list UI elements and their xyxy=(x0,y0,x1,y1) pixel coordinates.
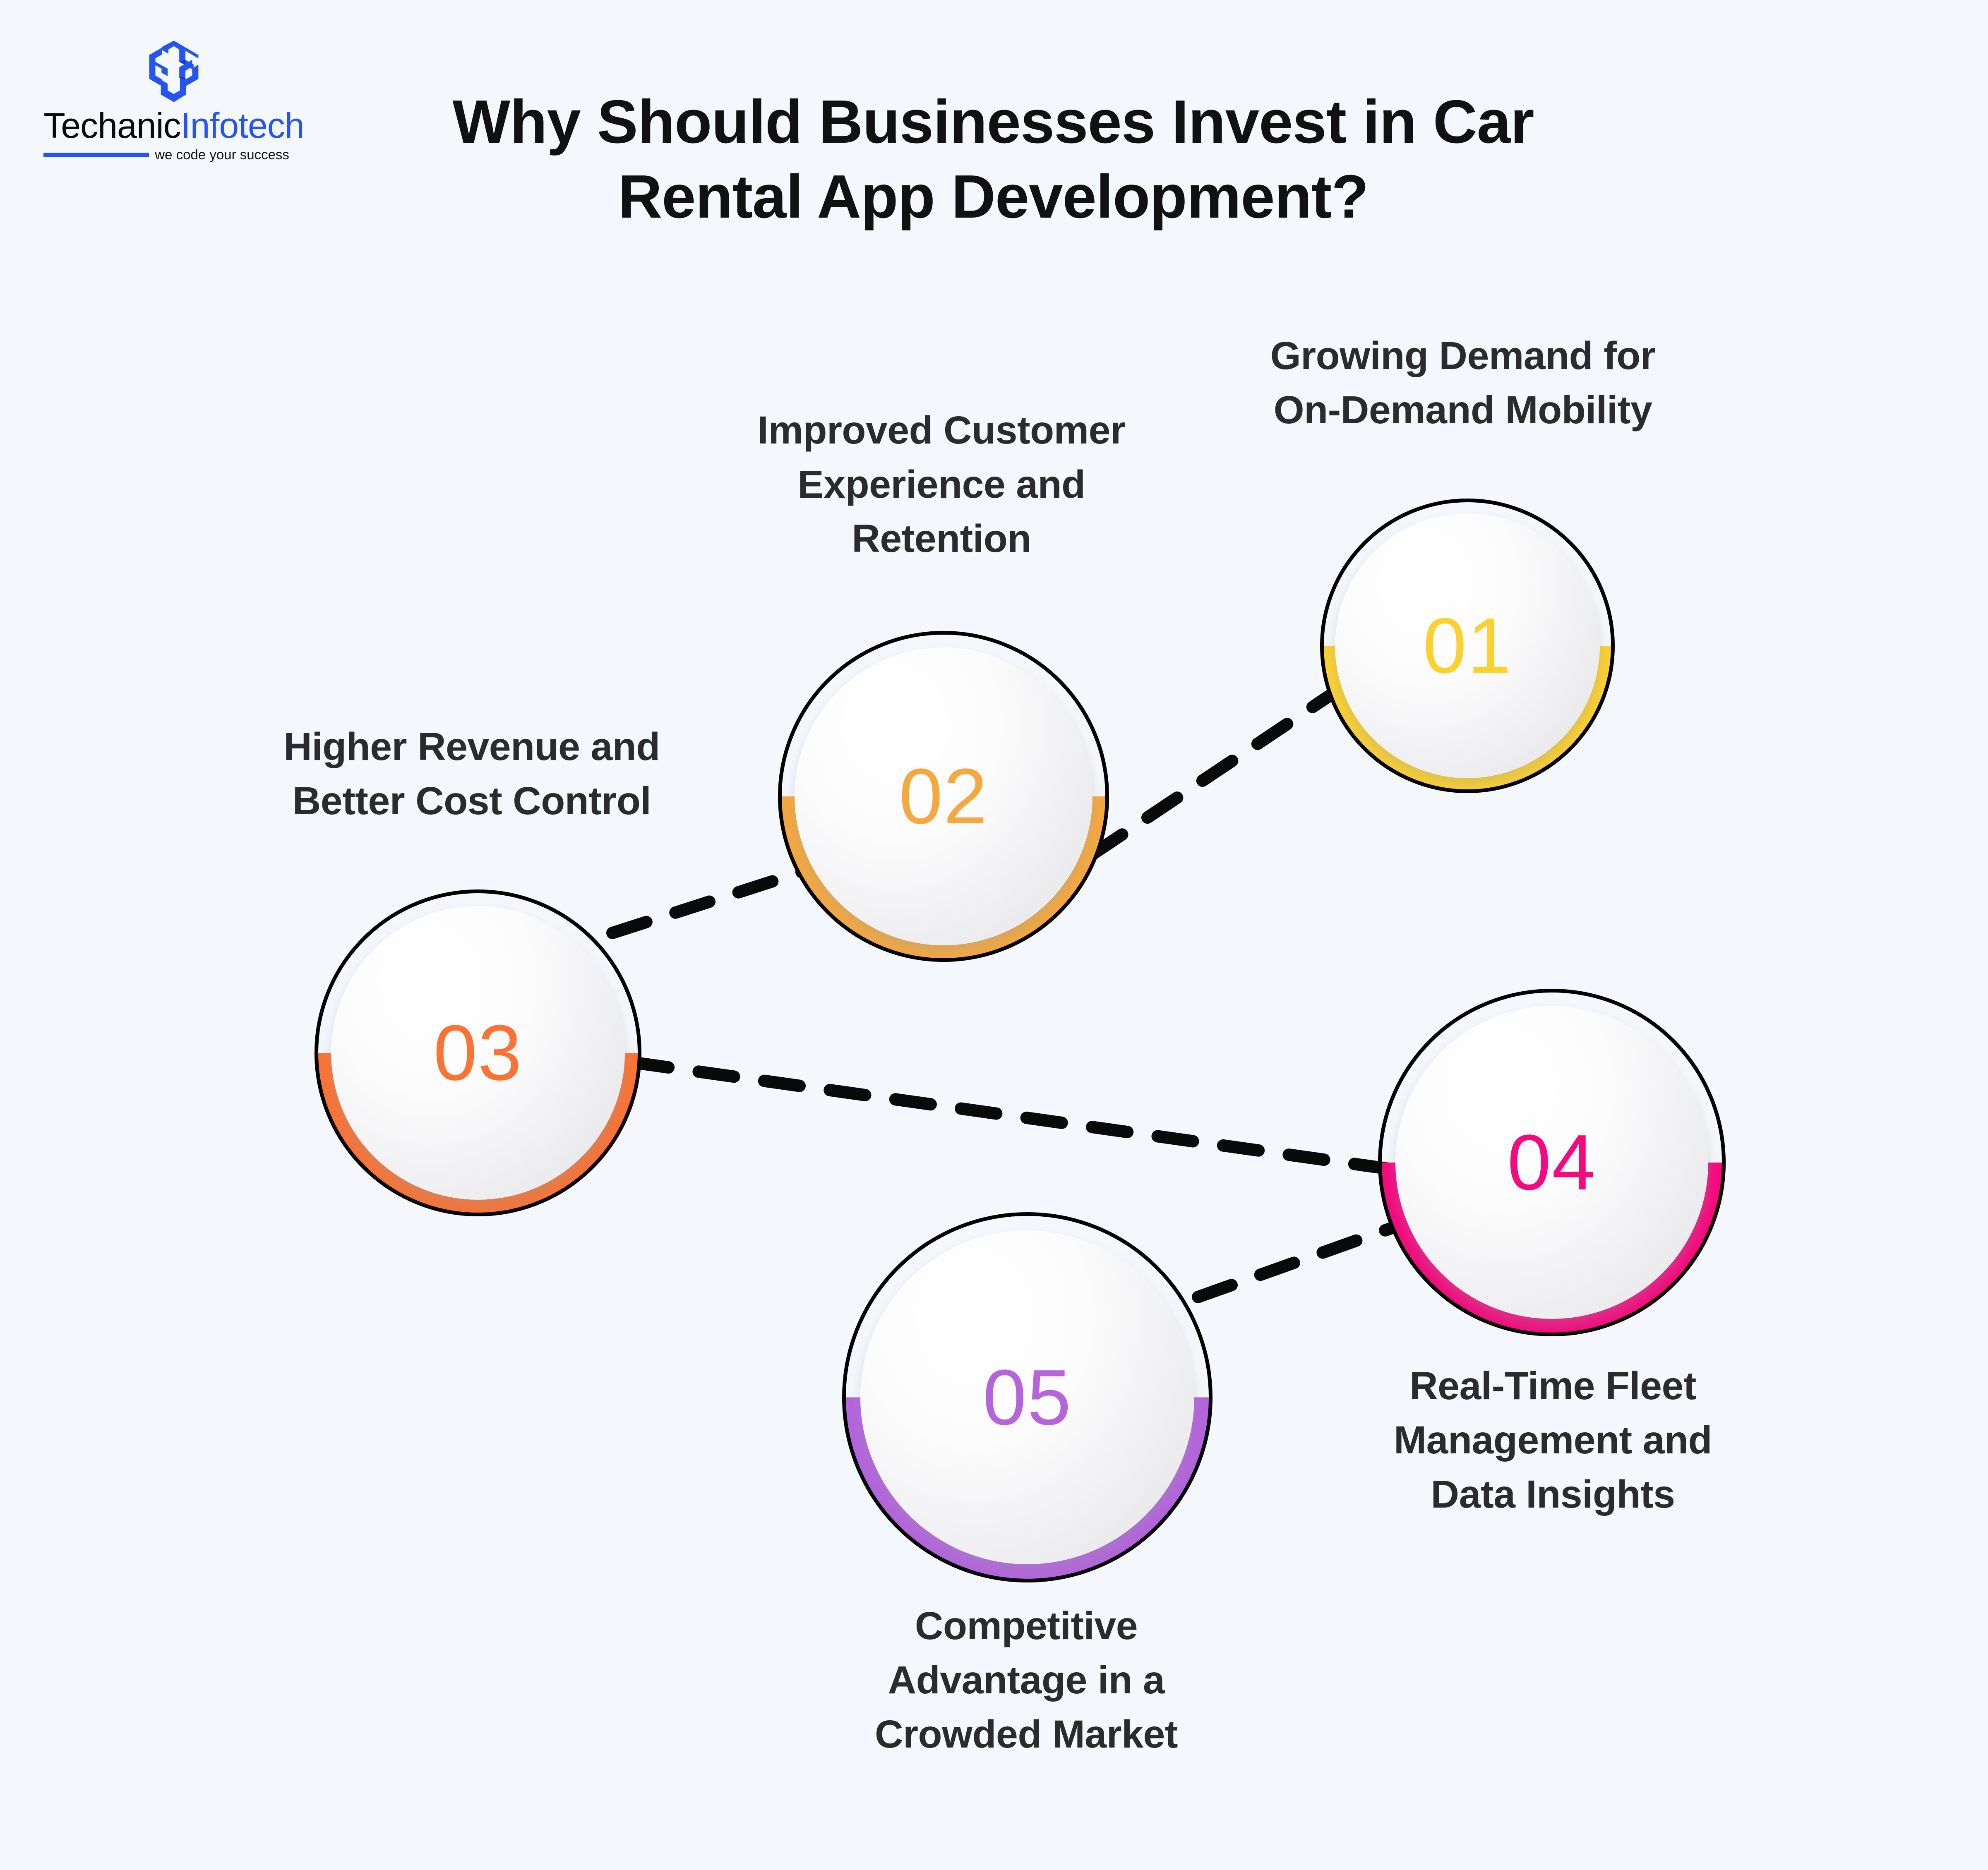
caption-line: Data Insights xyxy=(1335,1467,1771,1522)
caption-line: Experience and xyxy=(685,458,1198,512)
node-caption-04: Real-Time Fleet Management and Data Insi… xyxy=(1335,1359,1771,1522)
node-circle-03[interactable]: 03 xyxy=(315,889,641,1216)
node-number-01: 01 xyxy=(1320,499,1615,793)
caption-line: Advantage in a xyxy=(799,1653,1254,1707)
node-circle-01[interactable]: 01 xyxy=(1320,499,1615,793)
page-title: Why Should Businesses Invest in Car Rent… xyxy=(372,85,1614,234)
logo-divider-rule xyxy=(43,153,149,157)
node-number-04: 04 xyxy=(1378,989,1726,1336)
caption-line: Higher Revenue and xyxy=(174,720,770,774)
node-caption-02: Improved Customer Experience and Retenti… xyxy=(685,403,1198,566)
logo-name-primary: Techanic xyxy=(43,108,180,144)
connector-03-to-04 xyxy=(633,1062,1388,1169)
caption-line: Competitive xyxy=(799,1599,1254,1653)
node-circle-04[interactable]: 04 xyxy=(1378,989,1726,1336)
node-number-02: 02 xyxy=(778,631,1109,962)
node-number-05: 05 xyxy=(842,1212,1212,1582)
caption-line: On-Demand Mobility xyxy=(1188,383,1738,437)
logo-cube-icon xyxy=(134,37,213,105)
caption-line: Real-Time Fleet xyxy=(1335,1359,1771,1413)
caption-line: Crowded Market xyxy=(799,1707,1254,1762)
caption-line: Management and xyxy=(1335,1413,1771,1467)
node-circle-05[interactable]: 05 xyxy=(842,1212,1212,1582)
logo-tagline: we code your success xyxy=(155,148,289,161)
caption-line: Better Cost Control xyxy=(174,774,770,828)
caption-line: Growing Demand for xyxy=(1188,329,1738,383)
connector-02-to-01 xyxy=(1092,695,1330,854)
node-circle-02[interactable]: 02 xyxy=(778,631,1109,962)
page-title-line-2: Rental App Development? xyxy=(372,160,1614,235)
company-logo: TechanicInfotech we code your success xyxy=(62,37,286,161)
connector-05-to-04 xyxy=(1198,1223,1407,1297)
infographic-canvas: TechanicInfotech we code your success Wh… xyxy=(0,0,1988,1870)
caption-line: Improved Customer xyxy=(685,403,1198,458)
caption-line: Retention xyxy=(685,512,1198,566)
page-title-line-1: Why Should Businesses Invest in Car xyxy=(372,85,1614,160)
logo-name-secondary: Infotech xyxy=(181,108,304,144)
node-number-03: 03 xyxy=(315,889,641,1216)
node-caption-05: Competitive Advantage in a Crowded Marke… xyxy=(799,1599,1254,1762)
node-caption-03: Higher Revenue and Better Cost Control xyxy=(174,720,770,828)
logo-wordmark: TechanicInfotech we code your success xyxy=(43,108,304,161)
node-caption-01: Growing Demand for On-Demand Mobility xyxy=(1188,329,1738,437)
